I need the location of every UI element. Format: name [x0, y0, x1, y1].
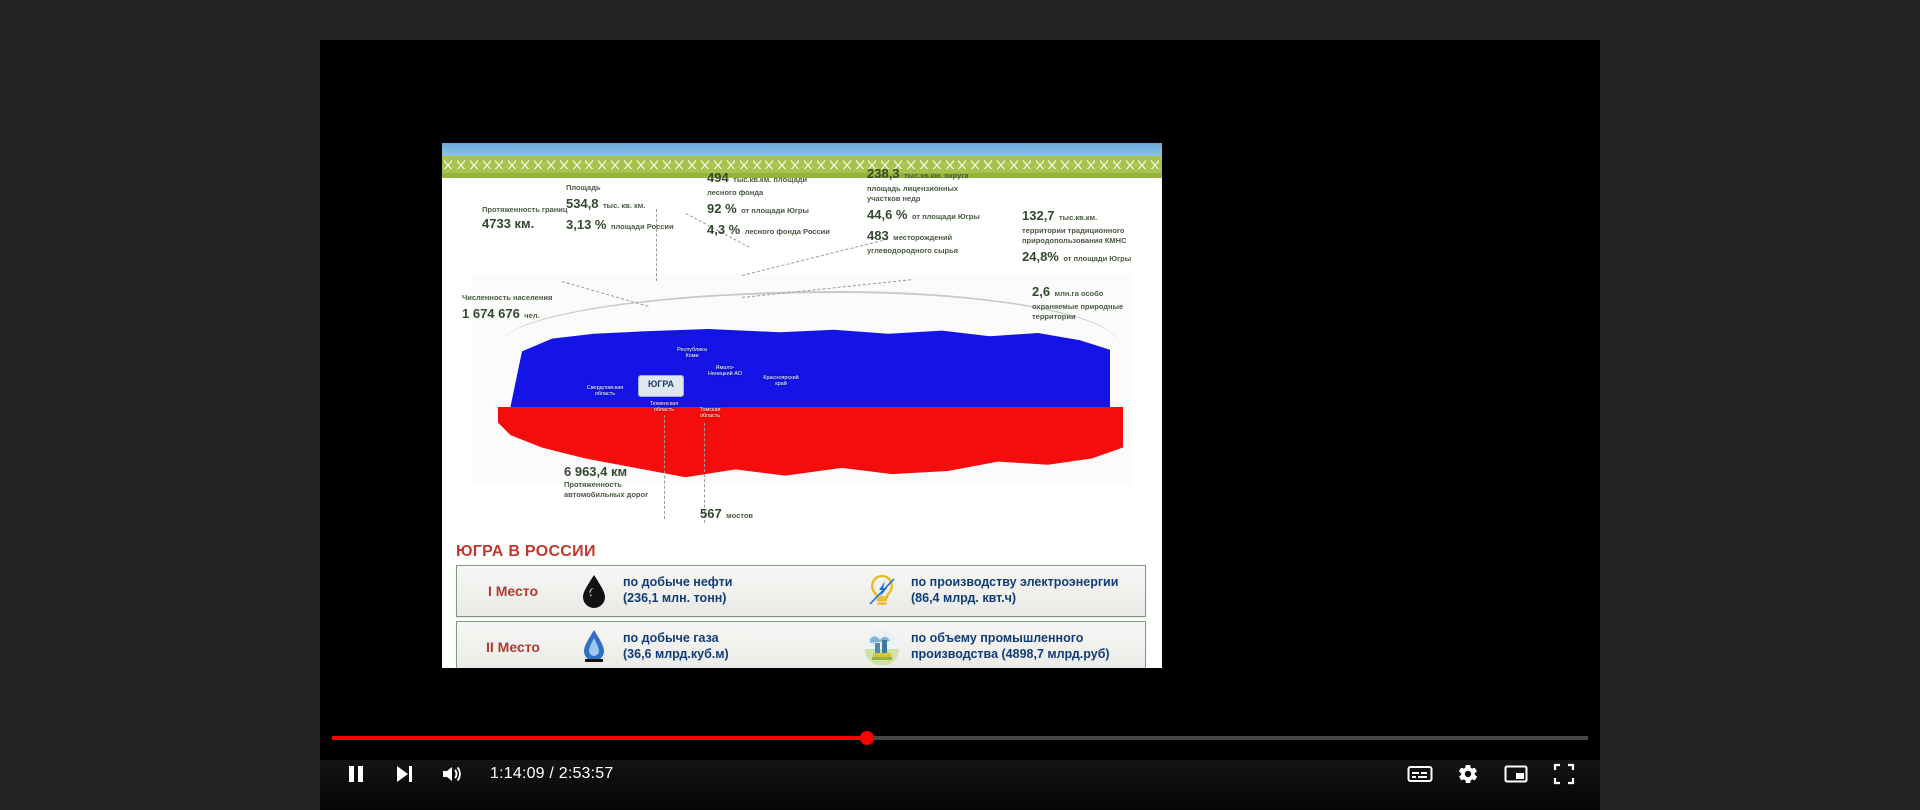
stat-protected-areas: 2,6 млн.га особо охраняемые природные те…	[1032, 281, 1123, 322]
stat-kmns-unit-1: тыс.кв.км.	[1059, 213, 1097, 222]
progress-bar[interactable]	[332, 736, 1588, 740]
stat-borders: Протяженность границ 4733 км.	[482, 205, 568, 232]
rank-line-1: по добыче газа	[623, 631, 729, 647]
stat-roads: 6 963,4 км Протяженность автомобильных д…	[564, 463, 648, 500]
gas-flame-icon	[575, 628, 613, 666]
rank-cell-text: по добыче газа (36,6 млрд.куб.м)	[623, 631, 729, 662]
rank-cell-text: по добыче нефти (236,1 млн. тонн)	[623, 575, 732, 606]
rank-cell: по добыче газа (36,6 млрд.куб.м)	[569, 622, 857, 668]
rank-line-2: (236,1 млн. тонн)	[623, 591, 732, 607]
lightbulb-icon	[863, 572, 901, 610]
rank-cell: по производству электроэнергии (86,4 млр…	[857, 566, 1145, 616]
video-player: ЮГРА РеспубликаКоми Ямало-Ненецкий АО Св…	[0, 0, 1920, 810]
stat-area-value-1: 534,8	[566, 196, 599, 211]
stat-subsoil-unit-1c: участков недр	[867, 194, 980, 204]
rankings-table: I Место по добыче нефти (236,1 млн. тонн…	[456, 565, 1146, 668]
map-label-komi: РеспубликаКоми	[670, 347, 714, 359]
presentation-slide: ЮГРА РеспубликаКоми Ямало-Ненецкий АО Св…	[442, 143, 1162, 668]
stat-protected-unit-1c: территории	[1032, 312, 1123, 322]
map-label-sverdlovsk: Свердловскаяобласть	[582, 385, 628, 397]
stat-forest-unit-2: от площади Югры	[741, 206, 809, 215]
stat-roads-unit-1b: автомобильных дорог	[564, 490, 648, 500]
stat-borders-label: Протяженность границ	[482, 205, 568, 215]
stat-protected-unit-1b: охраняемые природные	[1032, 302, 1123, 312]
stat-forest-value-1: 494	[707, 170, 729, 185]
rank-line-1: по объему промышленного	[911, 631, 1110, 647]
stat-area-value-2: 3,13 %	[566, 217, 606, 232]
rank-cell: по объему промышленного производства (48…	[857, 622, 1145, 668]
stat-protected-value-1: 2,6	[1032, 284, 1050, 299]
table-row: I Место по добыче нефти (236,1 млн. тонн…	[456, 565, 1146, 617]
stat-subsoil-unit-1: тыс.кв.км. округа	[904, 171, 969, 180]
rank-line-2: (86,4 млрд. квт.ч)	[911, 591, 1118, 607]
time-display: 1:14:09 / 2:53:57	[490, 765, 614, 783]
pause-button[interactable]	[332, 750, 380, 798]
stat-kmns-unit-1c: природопользования КМНС	[1022, 236, 1131, 246]
stat-subsoil-unit-2: от площади Югры	[912, 212, 980, 221]
stat-forest-unit-1: тыс.кв.км. площади	[733, 175, 807, 184]
stat-area-unit-2: площади России	[611, 222, 674, 231]
leader-line	[742, 239, 888, 276]
factory-icon	[863, 628, 901, 666]
stat-bridges: 567 мостов	[700, 503, 753, 524]
stat-roads-unit-1: Протяженность	[564, 480, 648, 490]
rank-line-1: по производству электроэнергии	[911, 575, 1118, 591]
slide-header-band-blue	[442, 143, 1162, 156]
stat-bridges-value: 567	[700, 506, 722, 521]
oil-drop-icon	[575, 572, 613, 610]
stat-area-label: Площадь	[566, 183, 674, 193]
rank-cell: по добыче нефти (236,1 млн. тонн)	[569, 566, 857, 616]
map-label-tyumen: Тюменскаяобласть	[642, 401, 686, 413]
stat-protected-unit-1: млн.га особо	[1055, 289, 1104, 298]
rank-place-label: II Место	[457, 622, 569, 668]
rank-cell-text: по производству электроэнергии (86,4 млр…	[911, 575, 1118, 606]
stat-kmns-unit-1b: территории традиционного	[1022, 226, 1131, 236]
stat-population-label: Численность населения	[462, 293, 552, 303]
miniplayer-button[interactable]	[1492, 750, 1540, 798]
stat-kmns-unit-2: от площади Югры	[1063, 254, 1131, 263]
stat-forest-value-3: 4,3 %	[707, 222, 740, 237]
stat-kmns-value-2: 24,8%	[1022, 249, 1059, 264]
volume-button[interactable]	[428, 750, 476, 798]
stat-subsoil-unit-1b: площадь лицензионных	[867, 184, 980, 194]
stat-subsoil: 238,3 тыс.кв.км. округа площадь лицензио…	[867, 163, 980, 256]
map-label-yanao: Ямало-Ненецкий АО	[702, 365, 748, 377]
progress-scrubber-handle[interactable]	[860, 731, 874, 745]
subtitles-button[interactable]	[1396, 750, 1444, 798]
stat-subsoil-unit-3: месторождений	[893, 233, 952, 242]
stat-borders-value: 4733 км.	[482, 215, 568, 232]
fullscreen-button[interactable]	[1540, 750, 1588, 798]
map-label-krasnoyarsk: Красноярскийкрай	[758, 375, 804, 387]
stat-population-unit: чел.	[524, 311, 539, 320]
stat-area: Площадь 534,8 тыс. кв. км. 3,13 % площад…	[566, 183, 674, 235]
stat-bridges-unit: мостов	[726, 511, 753, 520]
stat-population-value: 1 674 676	[462, 306, 520, 321]
leader-line	[664, 415, 665, 519]
stat-forest-unit-3: лесного фонда России	[745, 227, 830, 236]
rank-line-2: (36,6 млрд.куб.м)	[623, 647, 729, 663]
stat-area-unit-1: тыс. кв. км.	[603, 201, 645, 210]
stat-population: Численность населения 1 674 676 чел.	[462, 293, 552, 324]
rank-line-1: по добыче нефти	[623, 575, 732, 591]
stat-kmns: 132,7 тыс.кв.км. территории традиционног…	[1022, 205, 1131, 267]
progress-played	[332, 736, 867, 740]
stat-forest: 494 тыс.кв.км. площади лесного фонда 92 …	[707, 167, 830, 240]
rank-cell-text: по объему промышленного производства (48…	[911, 631, 1110, 662]
stat-forest-value-2: 92 %	[707, 201, 737, 216]
next-video-button[interactable]	[380, 750, 428, 798]
stat-subsoil-value-3: 483	[867, 228, 889, 243]
stat-forest-unit-1b: лесного фонда	[707, 188, 830, 198]
rank-place-label: I Место	[457, 566, 569, 616]
player-controls: 1:14:09 / 2:53:57	[320, 714, 1600, 810]
stat-subsoil-unit-3b: углеводородного сырья	[867, 246, 980, 256]
section-title-yugra-in-russia: ЮГРА В РОССИИ	[456, 543, 596, 561]
settings-button[interactable]	[1444, 750, 1492, 798]
map-label-tomsk: Томскаяобласть	[690, 407, 730, 419]
table-row: II Место по добыче газа (36,6 млрд.куб.м	[456, 621, 1146, 668]
stat-roads-value: 6 963,4 км	[564, 463, 648, 480]
stat-subsoil-value-1: 238,3	[867, 166, 900, 181]
rank-line-2: производства (4898,7 млрд.руб)	[911, 647, 1110, 663]
stat-subsoil-value-2: 44,6 %	[867, 207, 907, 222]
video-viewport[interactable]: ЮГРА РеспубликаКоми Ямало-Ненецкий АО Св…	[320, 40, 1600, 760]
stat-kmns-value-1: 132,7	[1022, 208, 1055, 223]
map-label-yugra: ЮГРА	[638, 379, 684, 389]
